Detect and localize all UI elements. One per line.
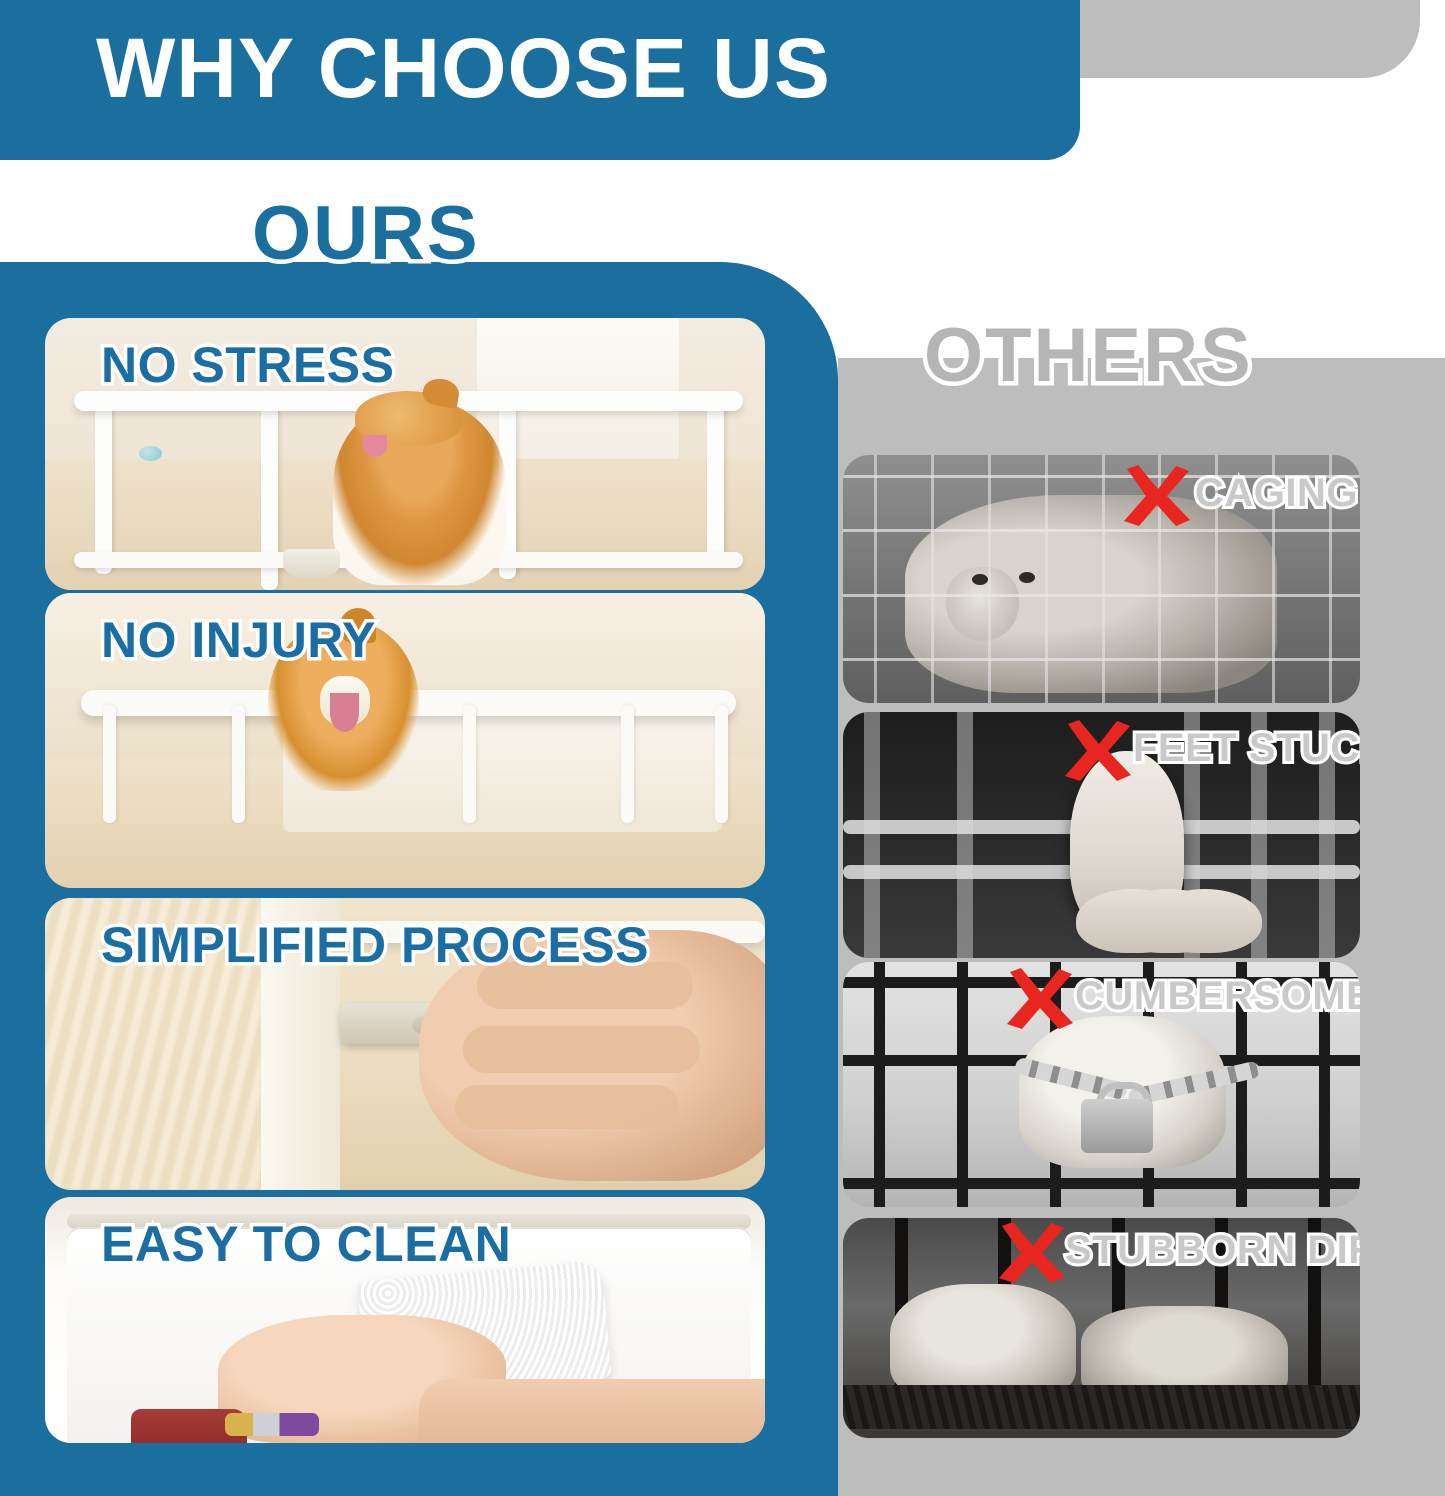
ours-card-no-stress: NO STRESS — [45, 318, 765, 590]
ours-caption-easy-to-clean: EASY TO CLEAN — [101, 1219, 511, 1269]
others-caption-feet-stuck: FEET STUCK — [1133, 728, 1360, 768]
others-card-cumbersome: CUMBERSOME — [843, 962, 1360, 1207]
header-banner: WHY CHOOSE US — [0, 0, 1080, 160]
ours-caption-no-stress: NO STRESS — [101, 340, 394, 390]
others-section-label: OTHERS — [924, 318, 1253, 394]
ours-caption-no-injury: NO INJURY — [101, 615, 376, 665]
others-card-stubborn-dirt: STUBBORN DIRT — [843, 1218, 1360, 1438]
red-x-icon — [1118, 465, 1196, 527]
others-caption-stubborn-dirt: STUBBORN DIRT — [1065, 1230, 1360, 1270]
red-x-icon — [993, 1222, 1071, 1284]
others-caption-caging: CAGING — [1195, 473, 1358, 513]
ours-card-simplified-process: SIMPLIFIED PROCESS — [45, 898, 765, 1190]
others-card-caging: CAGING — [843, 455, 1360, 703]
others-card-feet-stuck: FEET STUCK — [843, 712, 1360, 958]
ours-card-easy-to-clean: EASY TO CLEAN — [45, 1197, 765, 1443]
infographic-stage: WHY CHOOSE US OURS OTHERS NO STRESS — [0, 0, 1445, 1496]
ours-card-no-injury: NO INJURY — [45, 593, 765, 888]
red-x-icon — [1001, 968, 1079, 1030]
ours-section-label: OURS — [252, 196, 480, 272]
page-title: WHY CHOOSE US — [96, 26, 831, 110]
red-x-icon — [1059, 720, 1137, 782]
header-gray-accent-bar — [1075, 0, 1420, 78]
others-caption-cumbersome: CUMBERSOME — [1075, 976, 1360, 1016]
ours-caption-simplified-process: SIMPLIFIED PROCESS — [101, 920, 649, 970]
